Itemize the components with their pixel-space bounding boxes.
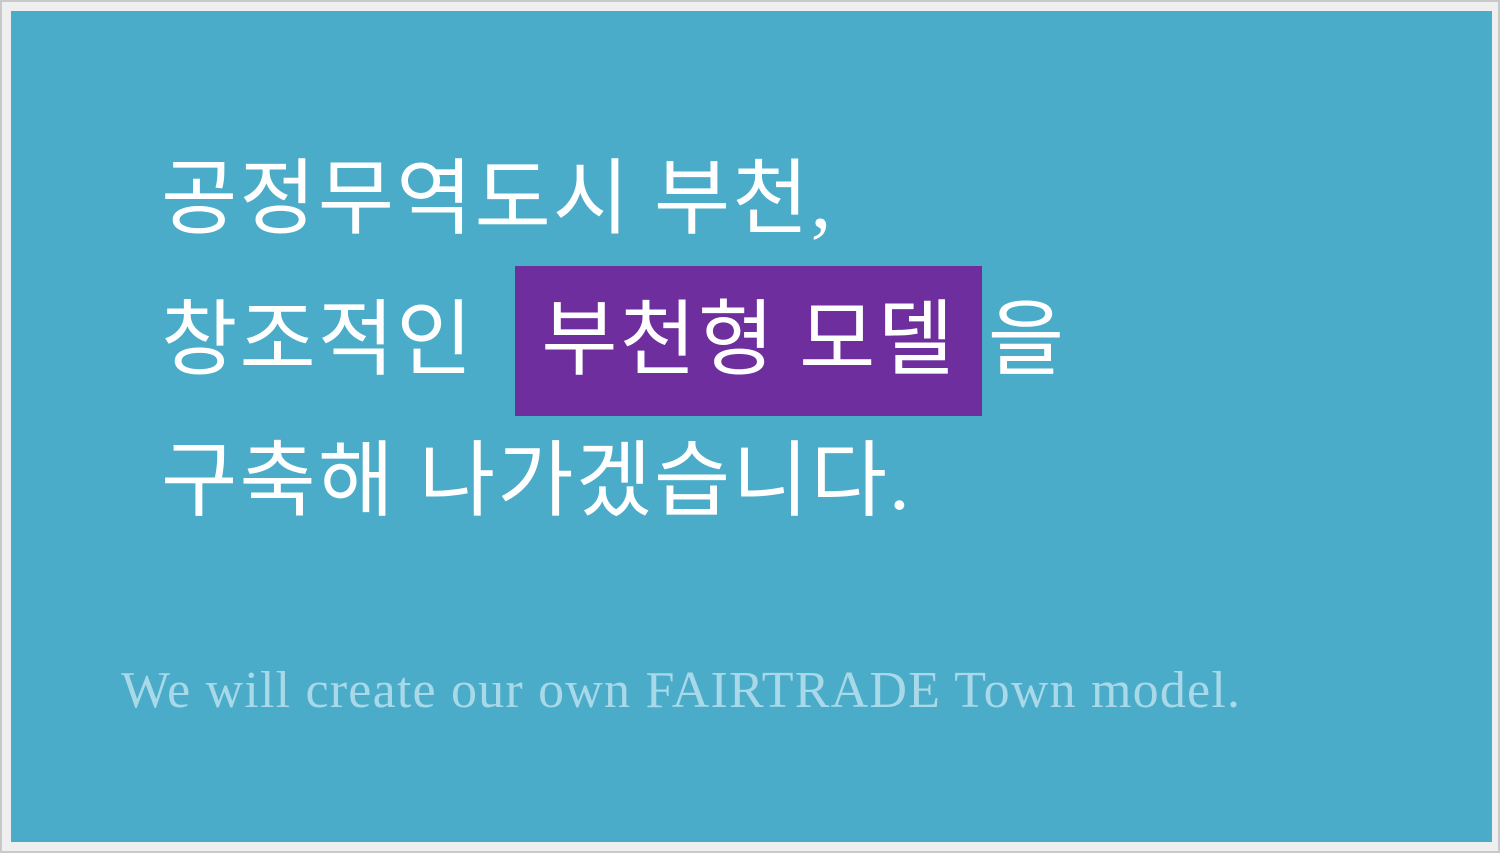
slide-subtitle: We will create our own FAIRTRADE Town mo… [121, 656, 1492, 726]
headline-line-2: 창조적인 부천형 모델 을 [161, 270, 1461, 411]
headline-highlight-bucheon-model: 부천형 모델 [515, 266, 982, 416]
slide-viewer: 공정무역도시 부천, 창조적인 부천형 모델 을 구축해 나가겠습니다. We … [0, 0, 1500, 853]
headline-line-3: 구축해 나가겠습니다. [161, 411, 1461, 552]
headline-line-2-prefix: 창조적인 [161, 270, 497, 411]
headline-line-3-text: 구축해 나가겠습니다. [161, 411, 912, 552]
headline-line-1-text: 공정무역도시 부천, [161, 129, 833, 270]
headline-block: 공정무역도시 부천, 창조적인 부천형 모델 을 구축해 나가겠습니다. [161, 129, 1461, 552]
presentation-slide: 공정무역도시 부천, 창조적인 부천형 모델 을 구축해 나가겠습니다. We … [11, 11, 1492, 842]
headline-line-2-suffix: 을 [988, 270, 1066, 411]
headline-line-1: 공정무역도시 부천, [161, 129, 1461, 270]
